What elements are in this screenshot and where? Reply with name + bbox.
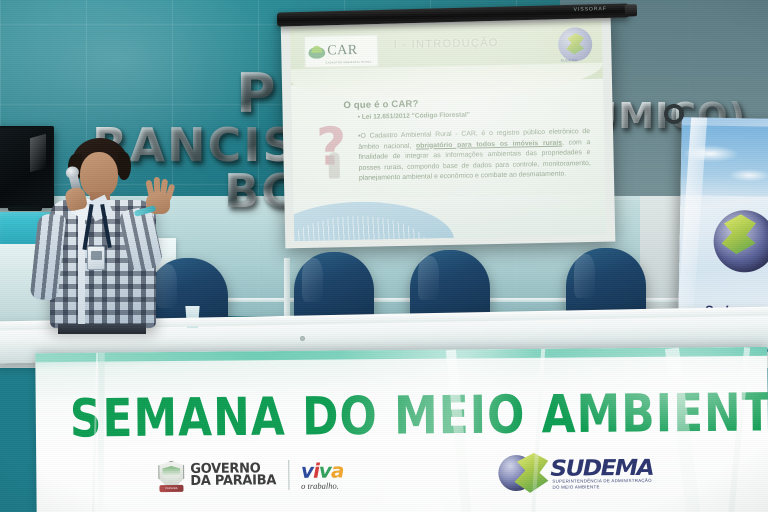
crest-band-text: PARAIBA [159,485,183,492]
slide-sudema-logo-text: SUDEMA [561,58,578,62]
banner-title: SEMANA DO MEIO AMBIENTE [70,383,768,450]
logo-divider [288,460,289,490]
viva-o-trabalho-logo: viva o trabalho. [301,459,344,491]
table-screw [300,336,305,341]
viva-word: viva [301,459,344,483]
presentation-slide: CAR CADASTRO AMBIENTAL RURAL I - INTRODU… [290,21,606,241]
event-banner: SEMANA DO MEIO AMBIENTE PARAIBA GOVERNO … [35,347,768,512]
projection-screen: CAR CADASTRO AMBIENTAL RURAL I - INTRODU… [281,14,616,249]
table-microphone-stand [284,258,290,316]
slide-header-curve [291,63,604,104]
shirt-placket [78,204,85,326]
presenter [28,128,188,333]
slide-bullet-law: • Lei 12.651/2012 "Código Florestal" [358,112,470,121]
wall-speaker-ring [664,104,684,124]
sudema-logo-subtitle-2: DO MEIO AMBIENTE [552,484,599,489]
viva-slogan: o trabalho. [301,481,344,491]
governo-logo-text: GOVERNO DA PARAIBA [190,463,276,488]
banner-wrinkle [97,353,104,512]
photo-scene: RANCISCO D PL BC UMICO) VISSORAF CAR CAD… [0,0,768,512]
viva-letter-a: a [331,459,344,483]
roller-brand-label: VISSORAF [574,6,607,13]
presenter-belt [58,324,146,334]
person-silhouette-icon [328,152,340,178]
car-logo-subtitle: CADASTRO AMBIENTAL RURAL [326,61,372,65]
governo-da-paraiba-logo: PARAIBA GOVERNO DA PARAIBA viva o trabal… [158,459,343,493]
viva-letter-v2: v [319,459,331,483]
slide-sudema-logo: SUDEMA [558,27,593,62]
slide-heading: O que é o CAR? [343,99,418,112]
rollup-banner: Sudema [678,117,768,325]
governo-line-2: DA PARAIBA [190,475,276,488]
viva-letter-v1: v [301,459,313,483]
sudema-logo-subtitle-1: SUPERINTENDÊNCIA DE ADMINISTRAÇÃO [552,478,651,484]
sudema-logo: SUDEMA SUPERINTENDÊNCIA DE ADMINISTRAÇÃO… [498,452,658,493]
roller-end-cap [625,4,637,16]
paraiba-crest-icon: PARAIBA [158,461,184,491]
id-badge [87,246,105,270]
slide-footer-graphic [293,193,606,242]
slide-paragraph: •O Cadastro Ambiental Rural - CAR, é o r… [358,127,591,184]
